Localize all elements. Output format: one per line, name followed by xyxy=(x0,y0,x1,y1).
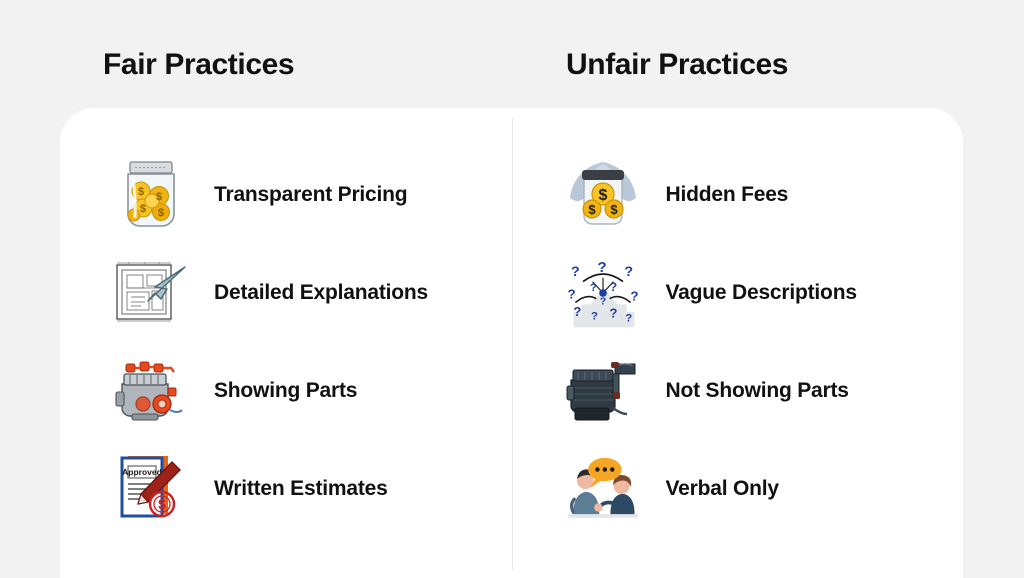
list-item-label: Verbal Only xyxy=(666,477,779,501)
blueprint-arrow-icon xyxy=(112,252,190,334)
svg-text:Approved: Approved xyxy=(122,467,162,477)
column-headers: Fair Practices Unfair Practices xyxy=(0,0,1024,108)
list-item-label: Vague Descriptions xyxy=(666,281,857,305)
engine-colored-icon xyxy=(112,350,190,432)
svg-text:$: $ xyxy=(158,207,164,219)
money-jar-open-icon: $ $ $ $ xyxy=(112,154,190,236)
list-item[interactable]: Not Showing Parts xyxy=(512,342,964,440)
svg-text:?: ? xyxy=(624,264,633,280)
svg-text:?: ? xyxy=(590,311,597,323)
list-item[interactable]: $ $ $ Hidden Fees xyxy=(512,146,964,244)
list-item[interactable]: Showing Parts xyxy=(60,342,512,440)
infographic-root: Fair Practices Unfair Practices xyxy=(0,0,1024,578)
svg-text:$: $ xyxy=(138,186,144,198)
svg-text:?: ? xyxy=(630,289,638,304)
list-item[interactable]: ? ? ? ? ? ? ? ? ? ? ? ? xyxy=(512,244,964,342)
list-item-label: Transparent Pricing xyxy=(214,183,407,207)
covered-money-jar-icon: $ $ $ xyxy=(564,154,642,236)
svg-text:?: ? xyxy=(590,282,597,294)
svg-text:?: ? xyxy=(599,296,605,307)
list-item[interactable]: Approved xyxy=(60,440,512,538)
list-item-label: Not Showing Parts xyxy=(666,379,849,403)
question-marks-icon: ? ? ? ? ? ? ? ? ? ? ? ? xyxy=(564,252,642,334)
svg-text:$: $ xyxy=(610,202,618,217)
comparison-card: $ $ $ $ Transparent Pricing xyxy=(60,108,963,578)
svg-text:$: $ xyxy=(588,202,596,217)
svg-text:$: $ xyxy=(156,191,162,203)
list-item[interactable]: Verbal Only xyxy=(512,440,964,538)
svg-text:?: ? xyxy=(571,264,580,280)
header-unfair-practices: Unfair Practices xyxy=(566,48,788,82)
svg-text:?: ? xyxy=(625,313,632,325)
svg-text:$: $ xyxy=(158,496,166,512)
column-fair-practices: $ $ $ $ Transparent Pricing xyxy=(60,108,512,578)
list-item-label: Showing Parts xyxy=(214,379,357,403)
svg-text:?: ? xyxy=(609,280,617,294)
list-item-label: Written Estimates xyxy=(214,477,388,501)
approved-document-pen-icon: Approved xyxy=(112,448,190,530)
svg-text:?: ? xyxy=(597,259,606,276)
two-people-speech-bubble-icon xyxy=(564,448,642,530)
svg-text:$: $ xyxy=(598,187,607,204)
list-item[interactable]: Detailed Explanations xyxy=(60,244,512,342)
svg-text:?: ? xyxy=(567,287,575,302)
svg-text:?: ? xyxy=(609,306,617,321)
svg-text:$: $ xyxy=(140,203,146,215)
comparison-columns: $ $ $ $ Transparent Pricing xyxy=(60,108,963,578)
list-item[interactable]: $ $ $ $ Transparent Pricing xyxy=(60,146,512,244)
header-fair-practices: Fair Practices xyxy=(103,48,294,82)
svg-text:?: ? xyxy=(573,304,581,319)
list-item-label: Detailed Explanations xyxy=(214,281,428,305)
column-unfair-practices: $ $ $ Hidden Fees xyxy=(512,108,964,578)
list-item-label: Hidden Fees xyxy=(666,183,789,207)
engine-dark-icon xyxy=(564,350,642,432)
